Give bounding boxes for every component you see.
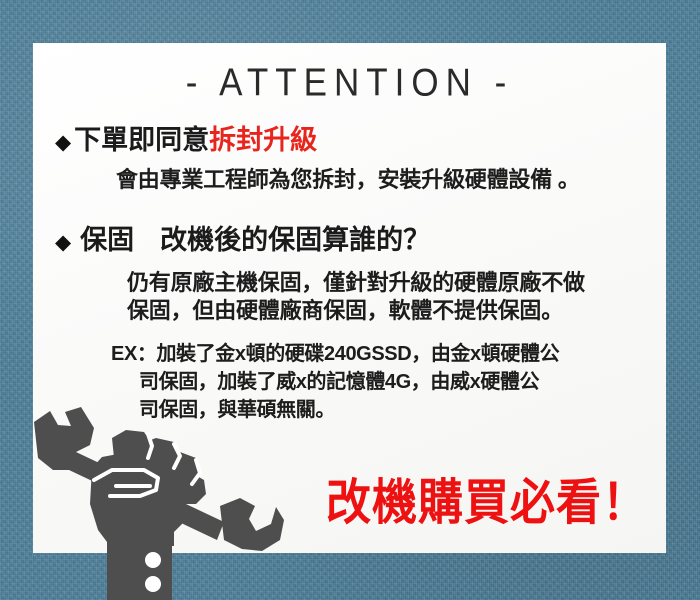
section-1-title: 下單即同意拆封升級 [74, 118, 317, 157]
section-2-title-plain: 保固 [80, 225, 134, 255]
section-2-title-question: 改機後的保固算誰的？ [160, 225, 430, 255]
section-1-title-highlight: 拆封升級 [209, 125, 317, 155]
diamond-bullet-icon: ◆ [55, 232, 71, 253]
section-2-title: 保固改機後的保固算誰的？ [80, 218, 430, 257]
section-1-body-line-1: 會由專業工程師為您拆封，安裝升級硬體設備 。 [116, 162, 580, 194]
page-title: - ATTENTION - [33, 61, 666, 106]
section-2-body-line-2: 保固，但由硬體廠商保固，軟體不提供保固。 [127, 293, 563, 325]
hand-holding-wrench-icon [24, 400, 284, 600]
section-1-title-plain: 下單即同意 [74, 125, 209, 155]
section-2-heading: ◆ 保固改機後的保固算誰的？ [55, 218, 430, 257]
section-2-example-line-1: EX：加裝了金x頓的硬碟240GSSD，由金x頓硬體公 [111, 337, 559, 366]
poster-root: - ATTENTION - ◆ 下單即同意拆封升級 會由專業工程師為您拆封，安裝… [0, 0, 700, 600]
callout-text: 改機購買必看！ [326, 463, 648, 533]
section-1-heading: ◆ 下單即同意拆封升級 [55, 118, 317, 157]
section-2-example-line-2: 司保固，加裝了威x的記憶體4G，由威x硬體公 [139, 365, 539, 394]
diamond-bullet-icon: ◆ [55, 132, 71, 153]
wrench-hand-svg [24, 400, 284, 600]
